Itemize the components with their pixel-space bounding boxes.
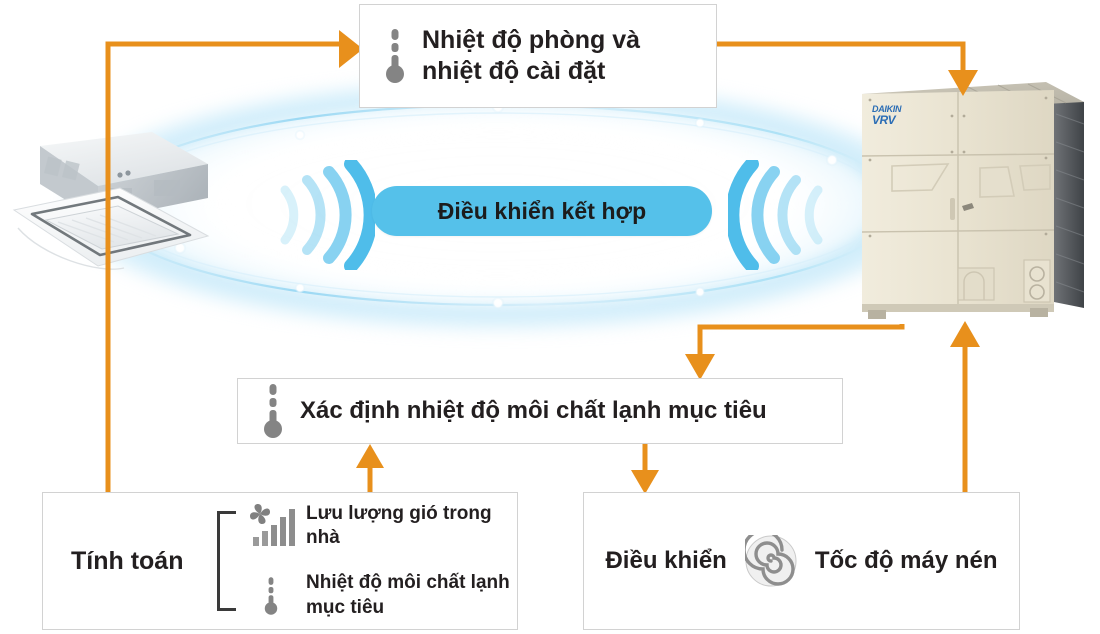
ceiling-cassette-indoor-unit bbox=[2, 128, 217, 278]
arrowhead-down-compressor bbox=[631, 470, 659, 494]
arrowhead-up-target bbox=[356, 444, 384, 468]
compressor-suffix: Tốc độ máy nén bbox=[815, 547, 998, 575]
room-temperature-line1: Nhiệt độ phòng và bbox=[422, 25, 640, 56]
thermometer-icon bbox=[262, 575, 280, 617]
box-target-refrigerant-temperature[interactable]: Xác định nhiệt độ môi chất lạnh mục tiêu bbox=[237, 378, 843, 444]
target-temp-line1: Nhiệt độ môi chất lạnh bbox=[306, 571, 510, 596]
scroll-compressor-spiral-icon bbox=[745, 535, 797, 587]
thermometer-icon bbox=[260, 382, 286, 440]
calculation-item-target-temp-text: Nhiệt độ môi chất lạnh mục tiêu bbox=[306, 571, 510, 620]
daikin-vrv-outdoor-unit: DAIKIN VRV bbox=[848, 56, 1096, 324]
combined-control-label: Điều khiển kết hợp bbox=[438, 198, 647, 225]
box-calculation[interactable]: Tính toán bbox=[42, 492, 518, 630]
fan-airflow-bars-icon bbox=[245, 504, 297, 548]
room-temperature-line2: nhiệt độ cài đặt bbox=[422, 56, 640, 87]
svg-text:VRV: VRV bbox=[872, 113, 897, 127]
combined-control-pill[interactable]: Điều khiển kết hợp bbox=[372, 186, 712, 236]
calculation-item-airflow: Lưu lượng gió trong nhà bbox=[244, 502, 517, 551]
thermometer-icon bbox=[382, 27, 408, 85]
bracket-icon bbox=[217, 511, 236, 611]
arrowhead-down-target bbox=[685, 354, 715, 380]
airflow-line1: Lưu lượng gió trong nhà bbox=[306, 502, 517, 551]
target-temp-line2: mục tiêu bbox=[306, 596, 510, 621]
diagram-canvas: DAIKIN VRV bbox=[0, 0, 1100, 634]
calculation-item-airflow-text: Lưu lượng gió trong nhà bbox=[306, 502, 517, 551]
box-compressor-control[interactable]: Điều khiển Tốc độ máy nén bbox=[583, 492, 1020, 630]
compressor-prefix: Điều khiển bbox=[605, 547, 726, 575]
box-room-temperature-text: Nhiệt độ phòng và nhiệt độ cài đặt bbox=[422, 25, 640, 88]
calculation-label: Tính toán bbox=[71, 547, 217, 576]
signal-waves-left bbox=[255, 160, 375, 270]
arrowhead-up-outdoor-bottom bbox=[950, 321, 980, 347]
connector-outdoor-to-target bbox=[700, 324, 902, 356]
signal-waves-right bbox=[728, 160, 848, 270]
target-refrigerant-label: Xác định nhiệt độ môi chất lạnh mục tiêu bbox=[300, 396, 767, 426]
calculation-item-target-temp: Nhiệt độ môi chất lạnh mục tiêu bbox=[244, 571, 517, 620]
box-room-temperature[interactable]: Nhiệt độ phòng và nhiệt độ cài đặt bbox=[359, 4, 717, 108]
